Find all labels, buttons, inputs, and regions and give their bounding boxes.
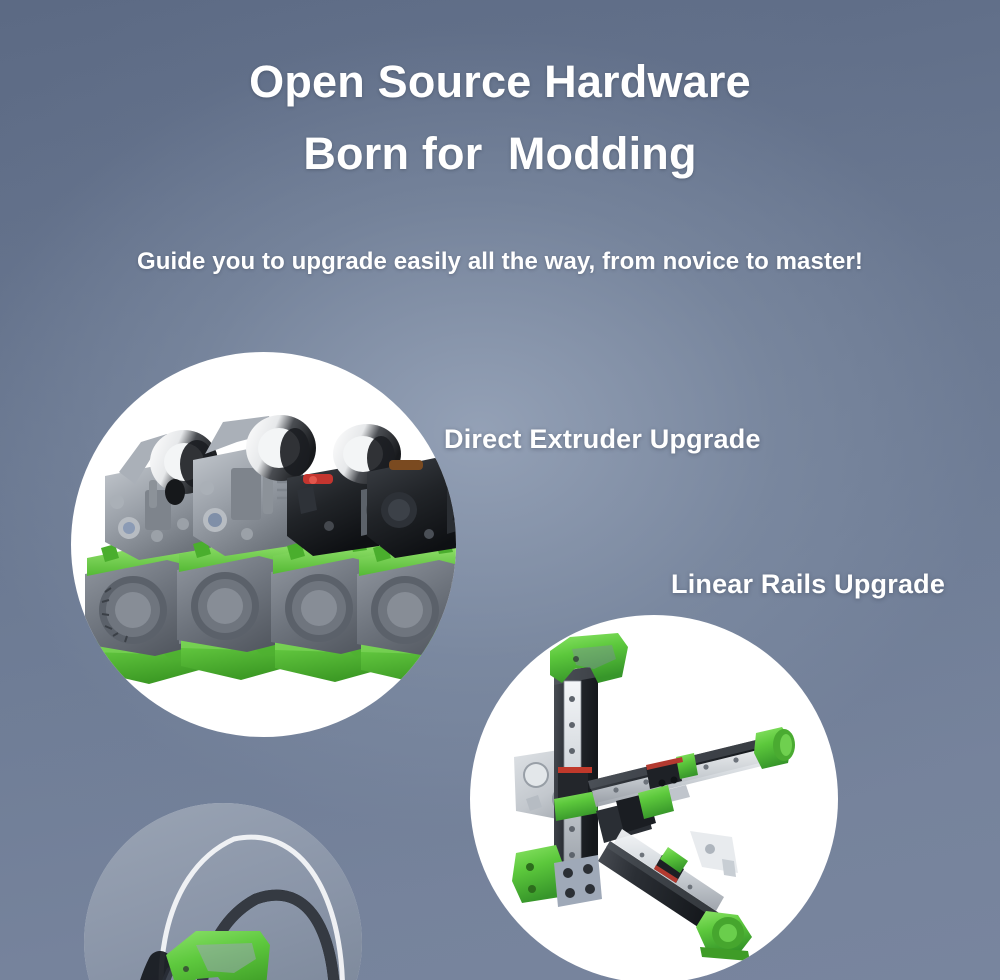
extruder-unit-4 bbox=[357, 458, 456, 684]
feature-label-linear-rails: Linear Rails Upgrade bbox=[671, 569, 945, 600]
direct-extruder-artwork bbox=[71, 352, 456, 737]
belt-cable-artwork bbox=[84, 803, 362, 980]
headline-line-2: Born for Modding bbox=[0, 118, 1000, 190]
promo-banner: Open Source Hardware Born for Modding Gu… bbox=[0, 0, 1000, 980]
headline-line-1: Open Source Hardware bbox=[0, 46, 1000, 118]
headline-block: Open Source Hardware Born for Modding bbox=[0, 46, 1000, 190]
feature-circle-direct-extruder bbox=[71, 352, 456, 737]
subheadline: Guide you to upgrade easily all the way,… bbox=[0, 248, 1000, 276]
feature-label-direct-extruder: Direct Extruder Upgrade bbox=[444, 424, 761, 455]
linear-rails-artwork bbox=[470, 615, 838, 980]
feature-circle-linear-rails bbox=[470, 615, 838, 980]
feature-circle-belt-photo bbox=[84, 803, 362, 980]
